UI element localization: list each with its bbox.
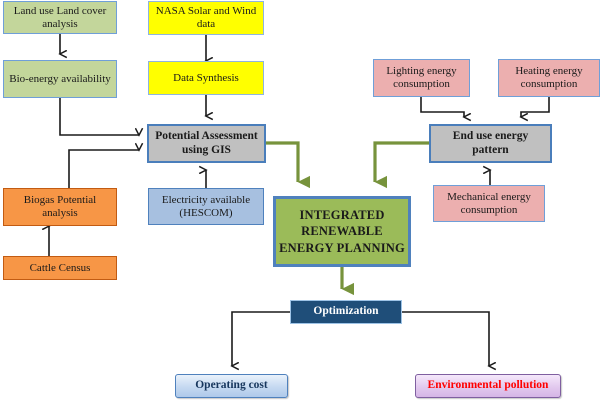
edge-lighting-to-end-use bbox=[421, 97, 464, 117]
node-label: Bio-energy availability bbox=[4, 73, 116, 86]
node-mechanical-energy-consumption[interactable]: Mechanical energy consumption bbox=[433, 185, 545, 222]
edge-biogas-to-gis bbox=[69, 150, 139, 188]
node-label: Optimization bbox=[291, 305, 401, 319]
edge-bio-energy-to-gis bbox=[60, 98, 139, 135]
node-label: Heating energy consumption bbox=[499, 65, 599, 91]
flowchart-canvas: Land use Land cover analysis Bio-energy … bbox=[0, 0, 607, 403]
node-operating-cost[interactable]: Operating cost bbox=[175, 374, 288, 398]
node-lighting-energy-consumption[interactable]: Lighting energy consumption bbox=[373, 59, 470, 97]
node-label: INTEGRATED RENEWABLE ENERGY PLANNING bbox=[276, 207, 408, 257]
node-nasa-solar-and-wind-data[interactable]: NASA Solar and Wind data bbox=[148, 1, 264, 35]
node-electricity-available-hescom[interactable]: Electricity available (HESCOM) bbox=[148, 188, 264, 225]
node-biogas-potential-analysis[interactable]: Biogas Potential analysis bbox=[3, 188, 117, 226]
node-bio-energy-availability[interactable]: Bio-energy availability bbox=[3, 60, 117, 98]
edge-heating-to-end-use bbox=[521, 97, 549, 117]
edge-optimization-to-pollution bbox=[402, 312, 489, 366]
node-end-use-energy-pattern[interactable]: End use energy pattern bbox=[429, 124, 552, 163]
node-label: Lighting energy consumption bbox=[374, 65, 469, 91]
node-label: End use energy pattern bbox=[431, 130, 550, 157]
edge-optimization-to-operating-cost bbox=[232, 312, 290, 366]
node-label: Cattle Census bbox=[4, 262, 116, 275]
node-land-use-land-cover-analysis[interactable]: Land use Land cover analysis bbox=[3, 1, 117, 34]
node-data-synthesis[interactable]: Data Synthesis bbox=[148, 61, 264, 95]
node-label: Operating cost bbox=[176, 379, 287, 393]
node-environmental-pollution[interactable]: Environmental pollution bbox=[415, 374, 561, 398]
node-heating-energy-consumption[interactable]: Heating energy consumption bbox=[498, 59, 600, 97]
node-label: NASA Solar and Wind data bbox=[149, 5, 263, 31]
node-label: Data Synthesis bbox=[149, 72, 263, 85]
node-label: Potential Assessment using GIS bbox=[149, 130, 264, 157]
node-integrated-renewable-energy-planning[interactable]: INTEGRATED RENEWABLE ENERGY PLANNING bbox=[273, 196, 411, 267]
edge-end-use-to-core bbox=[375, 143, 429, 182]
node-potential-assessment-using-gis[interactable]: Potential Assessment using GIS bbox=[147, 124, 266, 163]
node-optimization[interactable]: Optimization bbox=[290, 300, 402, 324]
node-label: Biogas Potential analysis bbox=[4, 194, 116, 220]
node-label: Environmental pollution bbox=[416, 379, 560, 393]
node-label: Mechanical energy consumption bbox=[434, 191, 544, 217]
node-label: Electricity available (HESCOM) bbox=[149, 194, 263, 220]
node-label: Land use Land cover analysis bbox=[4, 5, 116, 31]
edge-gis-to-core bbox=[266, 143, 298, 182]
node-cattle-census[interactable]: Cattle Census bbox=[3, 256, 117, 280]
